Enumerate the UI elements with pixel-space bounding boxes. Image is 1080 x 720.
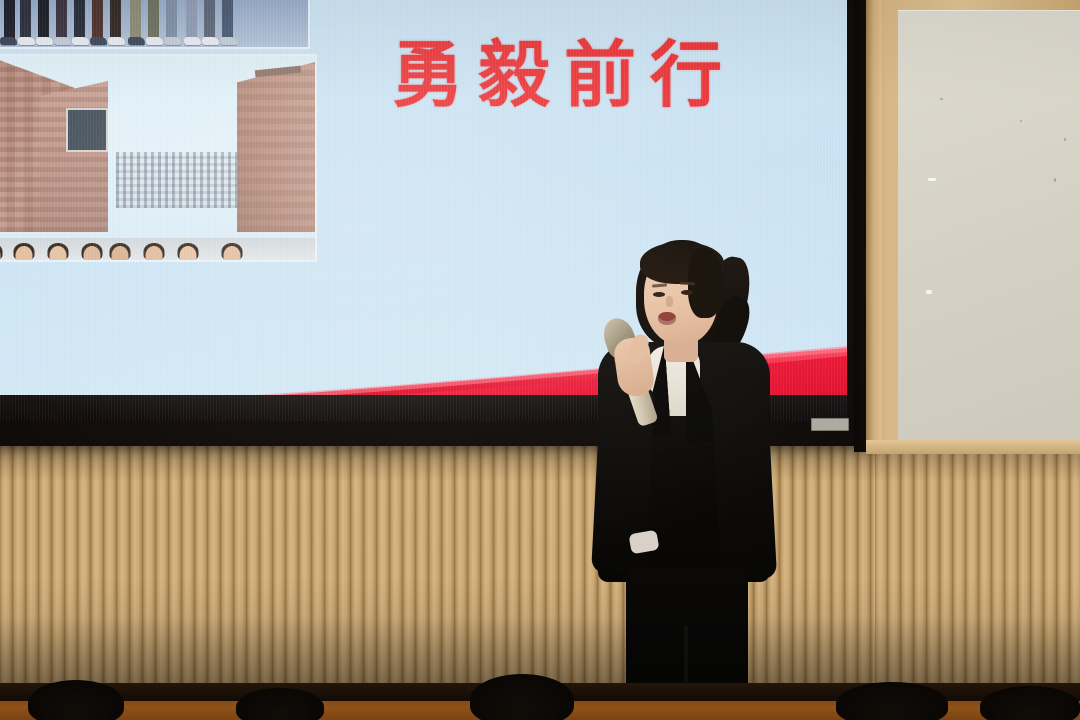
audience-head xyxy=(980,686,1080,720)
audience-head xyxy=(470,674,574,720)
slide-photo-top xyxy=(0,0,308,47)
arm-right xyxy=(711,383,777,582)
slide-photo-bottom xyxy=(0,56,315,260)
distant-apartment-blocks xyxy=(116,152,238,208)
audience-head xyxy=(236,688,324,720)
eye-left xyxy=(653,292,665,297)
mouth xyxy=(658,312,676,325)
whiteboard-bottom-rail xyxy=(866,440,1080,454)
nose xyxy=(666,296,673,307)
projector-brand-badge xyxy=(811,418,849,431)
whiteboard-surface xyxy=(898,10,1080,440)
wood-slat-wall-right xyxy=(875,450,1080,683)
presentation-photo-scene: 勇毅前行 xyxy=(0,0,1080,720)
brick-building-left-inner xyxy=(40,81,108,232)
brick-building-right xyxy=(237,62,315,232)
audience-head xyxy=(28,680,124,720)
audience-head xyxy=(836,682,948,720)
speaker-figure xyxy=(592,234,792,720)
window xyxy=(66,108,108,152)
slide-title: 勇毅前行 xyxy=(392,36,736,114)
eye-right xyxy=(681,290,693,295)
